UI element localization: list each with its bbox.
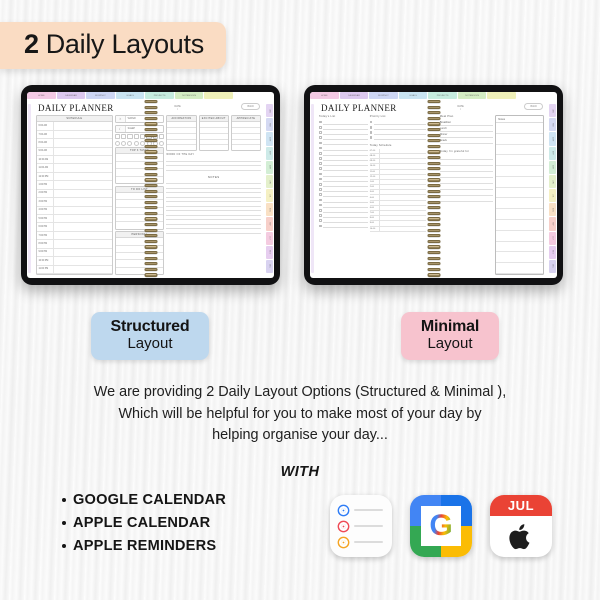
schedule-row[interactable]: 4:00 PM [37,207,112,215]
note-line[interactable] [496,134,543,145]
schedule-row[interactable]: 11:00 PM [37,266,112,274]
schedule-entry[interactable] [54,139,112,146]
apple-reminders-icon[interactable] [330,495,392,557]
schedule-entry[interactable] [54,173,112,180]
reminder-dot-red-icon [339,522,348,531]
spiral-ring [144,139,157,142]
schedule-entry[interactable] [380,221,426,225]
side-tab-nov[interactable]: NOV [266,246,273,259]
note-line[interactable] [496,209,543,220]
water-drop-icon: ☃ [116,116,126,122]
today-schedule-rows[interactable]: 07:00 08:00 09:00 10:00 11:00 12:00 1:00… [370,149,426,232]
page-title-banner: 2 Daily Layouts [0,22,226,69]
nav-tab-projects[interactable]: PROJECTS [145,92,174,99]
spiral-ring [144,234,157,237]
spiral-ring [427,100,440,103]
spiral-ring [144,251,157,254]
schedule-row[interactable]: 12:00 PM [37,173,112,181]
schedule-time: 1:00 PM [37,181,54,188]
excited-row[interactable] [200,145,228,150]
reminder-line [354,525,383,527]
description-text: We are providing 2 Daily Layout Options … [22,382,578,447]
schedule-entry[interactable] [54,190,112,197]
reminder-row [339,506,383,515]
nav-spacer [517,92,557,99]
schedule-entry[interactable] [54,181,112,188]
notes-section-structured: NOTES [166,173,261,276]
notes-lines-structured[interactable] [166,180,261,276]
spiral-ring [427,111,440,114]
spiral-ring [427,150,440,153]
spiral-ring [427,128,440,131]
spiral-ring [144,178,157,181]
habit-circle[interactable] [121,141,126,146]
nav-tab-projects[interactable]: PROJECTS [428,92,457,99]
schedule-entry[interactable] [380,201,426,205]
schedule-time: 6:00 AM [37,122,54,129]
schedule-row[interactable]: 8:00 PM [37,240,112,248]
spiral-ring [144,245,157,248]
appreciate-panel: APPRECIATE [231,115,261,151]
checkbox[interactable] [319,147,322,150]
side-tab-jul[interactable]: JUL [549,189,556,202]
nav-tab-monthly[interactable]: MONTHLY [86,92,115,99]
gratitude-label: Today I'm grateful for [440,144,494,155]
habit-square[interactable] [159,134,164,139]
checkbox[interactable] [370,126,373,129]
nav-tab-monthly[interactable]: MONTHLY [369,92,398,99]
schedule-time: 5:00 [370,201,380,205]
schedule-entry[interactable] [380,227,426,231]
schedule-row[interactable]: 11:00 AM [37,164,112,172]
side-tab-feb[interactable]: FEB [266,118,273,131]
checkbox[interactable] [319,142,322,145]
note-line[interactable] [496,123,543,134]
spiral-ring [144,229,157,232]
schedule-time: 3:00 PM [37,198,54,205]
schedule-entry[interactable] [380,170,426,174]
schedule-entry[interactable] [54,249,112,256]
schedule-time: 09:00 [370,159,380,163]
schedule-row[interactable]: 3:00 PM [37,198,112,206]
spiral-ring [144,184,157,187]
schedule-entry[interactable] [380,164,426,168]
schedule-time: 6:00 [370,206,380,210]
checkbox[interactable] [319,214,322,217]
list-item: APPLE CALENDAR [62,515,226,531]
checkbox[interactable] [370,131,373,134]
side-tab-apr[interactable]: APR [549,147,556,160]
side-tab-aug[interactable]: AUG [266,203,273,216]
appreciate-row[interactable] [232,145,260,150]
spiral-ring [427,139,440,142]
schedule-row[interactable]: 1:00 PM [37,181,112,189]
bullet-label: APPLE REMINDERS [73,538,216,554]
schedule-entry[interactable] [380,180,426,184]
spiral-ring [427,184,440,187]
spiral-ring [427,173,440,176]
checkbox[interactable] [319,193,322,196]
side-tab-oct[interactable]: OCT [549,232,556,245]
checkbox[interactable] [319,178,322,181]
todays-list-section: Today's List [319,115,368,275]
month-side-tabs-structured[interactable]: JAN FEB MAR APR MAY JUN JUL AUG SEP OCT … [265,102,274,276]
schedule-entry[interactable] [380,159,426,163]
apple-calendar-icon[interactable]: JUL [490,495,552,557]
gratitude-lines[interactable] [440,154,494,275]
nav-tab-notebooks[interactable]: NOTEBOOKS [458,92,487,99]
spiral-ring [427,106,440,109]
nav-tab-calendar[interactable]: CALENDAR [57,92,86,99]
schedule-entry[interactable] [54,232,112,239]
spiral-ring [144,128,157,131]
checkbox[interactable] [319,167,322,170]
schedule-row[interactable]: 8:00 AM [37,139,112,147]
habit-circle[interactable] [134,141,139,146]
side-tab-sep[interactable]: SEP [549,217,556,230]
date-value: / [175,108,181,111]
notes-label-minimal: Notes [496,116,543,123]
spiral-ring [427,217,440,220]
schedule-row[interactable]: 6:00 PM [37,223,112,231]
nav-tab-calendar[interactable]: CALENDAR [340,92,369,99]
word-of-the-day-lines[interactable] [166,157,261,171]
side-tab-sep[interactable]: SEP [266,217,273,230]
schedule-time: 8:00 AM [37,139,54,146]
schedule-entry[interactable] [54,257,112,264]
back-button-structured[interactable]: BACK [241,103,260,110]
side-tab-nov[interactable]: NOV [549,246,556,259]
apple-logo-svg [508,522,534,552]
feature-bullet-list: GOOGLE CALENDAR APPLE CALENDAR APPLE REM… [62,492,226,561]
side-tab-mar[interactable]: MAR [549,132,556,145]
notes-section-minimal: Notes [495,115,544,275]
nav-tab-goals[interactable]: GOALS [116,92,145,99]
spiral-ring [427,167,440,170]
schedule-row[interactable]: 7:00 AM [37,131,112,139]
schedule-row[interactable]: 10:00 [370,227,426,232]
spiral-ring [427,240,440,243]
habit-square[interactable] [121,134,126,139]
schedule-panel: SCHEDULE 6:00 AM 7:00 AM 8:00 AM 9:00 AM… [36,115,113,275]
schedule-row[interactable]: 7:00 PM [37,232,112,240]
checkbox[interactable] [319,204,322,207]
month-side-tabs-minimal[interactable]: JAN FEB MAR APR MAY JUN JUL AUG SEP OCT … [548,102,557,276]
spiral-ring [427,117,440,120]
line[interactable] [440,196,494,202]
word-of-the-day-section: WORD OF THE DAY [166,153,261,171]
affirmation-rows[interactable] [167,122,195,150]
side-tab-jan[interactable]: JAN [266,104,273,117]
side-tab-jun[interactable]: JUN [266,175,273,188]
nav-tab-notebooks[interactable]: NOTEBOOKS [175,92,204,99]
schedule-entry[interactable] [54,266,112,273]
checkbox[interactable] [319,157,322,160]
spiral-ring [427,257,440,260]
schedule-rows[interactable]: 6:00 AM 7:00 AM 8:00 AM 9:00 AM 10:00 AM… [37,122,112,274]
left-edge-strip [28,104,31,273]
app-icons-row: G JUL [330,495,552,557]
spiral-ring [144,134,157,137]
schedule-entry[interactable] [380,185,426,189]
line[interactable] [166,166,261,171]
note-line[interactable] [496,177,543,188]
spiral-ring [144,173,157,176]
line[interactable] [166,229,261,234]
google-center: G [421,506,461,546]
habit-circle[interactable] [115,141,120,146]
schedule-entry[interactable] [54,198,112,205]
habit-square[interactable] [115,134,120,139]
apple-calendar-month: JUL [490,495,552,516]
badge-slot-minimal: Minimal Layout [300,312,600,360]
planner-nav-tabs-structured[interactable]: HOME CALENDAR MONTHLY GOALS PROJECTS NOT… [27,92,274,99]
page-title-structured: DAILY PLANNER [38,103,114,113]
spiral-ring [427,134,440,137]
schedule-entry[interactable] [380,190,426,194]
side-tab-jul[interactable]: JUL [266,189,273,202]
schedule-row[interactable]: 9:00 PM [37,249,112,257]
today-schedule-label: Today Schedule [370,140,426,149]
schedule-row[interactable]: 6:00 AM [37,122,112,130]
spiral-ring [427,162,440,165]
schedule-time: 2:00 PM [37,190,54,197]
habit-circle[interactable] [127,141,132,146]
screen-minimal: HOME CALENDAR MONTHLY GOALS PROJECTS NOT… [310,92,557,278]
schedule-entry[interactable] [54,215,112,222]
schedule-time: 11:00 PM [37,266,54,273]
appreciate-rows[interactable] [232,122,260,150]
spiral-binding-minimal [427,99,440,278]
spiral-ring [144,201,157,204]
side-tab-apr[interactable]: APR [266,147,273,160]
schedule-entry[interactable] [380,175,426,179]
spiral-ring [427,273,440,276]
tablet-structured[interactable]: HOME CALENDAR MONTHLY GOALS PROJECTS NOT… [21,85,280,285]
with-label: WITH [0,464,600,480]
back-button-minimal[interactable]: BACK [524,103,543,110]
planner-nav-tabs-minimal[interactable]: HOME CALENDAR MONTHLY GOALS PROJECTS NOT… [310,92,557,99]
reminder-line [354,509,383,511]
title-banner-bg: 2 Daily Layouts [0,22,226,69]
schedule-entry[interactable] [380,211,426,215]
schedule-entry[interactable] [380,195,426,199]
checkbox[interactable] [319,121,322,124]
note-line[interactable] [496,188,543,199]
tablet-minimal[interactable]: HOME CALENDAR MONTHLY GOALS PROJECTS NOT… [304,85,563,285]
reminder-dot-blue-icon [339,506,348,515]
note-line[interactable] [496,155,543,166]
spiral-ring [427,195,440,198]
badge-slot-structured: Structured Layout [0,312,300,360]
list-item: APPLE REMINDERS [62,538,226,554]
spiral-ring [427,245,440,248]
schedule-entry[interactable] [54,156,112,163]
spiral-ring [427,262,440,265]
spiral-ring [427,122,440,125]
spiral-ring [144,162,157,165]
checkbox[interactable] [319,126,322,129]
affirmation-panel: AFFIRMATION [166,115,196,151]
side-tab-aug[interactable]: AUG [549,203,556,216]
schedule-entry[interactable] [380,206,426,210]
moon-icon: ☾ [116,126,126,132]
schedule-time: 10:00 AM [37,156,54,163]
spiral-ring [144,100,157,103]
date-value: / [458,108,464,111]
schedule-entry[interactable] [54,122,112,129]
side-tab-may[interactable]: MAY [549,161,556,174]
bullet-dot-icon [62,521,66,525]
excited-about-panel: EXCITED ABOUT [199,115,229,151]
note-line[interactable] [496,198,543,209]
side-tab-jan[interactable]: JAN [549,104,556,117]
bullet-dot-icon [62,544,66,548]
schedule-time: 9:00 [370,221,380,225]
priority-list-rows[interactable] [370,120,426,141]
habit-circle[interactable] [159,141,164,146]
badge-structured-subtitle: Layout [111,335,190,352]
affirmation-row[interactable] [167,145,195,150]
schedule-time: 4:00 [370,195,380,199]
schedule-entry[interactable] [54,207,112,214]
side-tab-feb[interactable]: FEB [549,118,556,131]
schedule-time: 10:00 PM [37,257,54,264]
habit-square[interactable] [134,134,139,139]
checkbox[interactable] [370,136,373,139]
google-calendar-icon[interactable]: G [410,495,472,557]
spiral-ring [144,167,157,170]
excited-about-rows[interactable] [200,122,228,150]
description-line-1: We are providing 2 Daily Layout Options … [22,382,578,404]
spiral-ring [144,273,157,276]
note-line[interactable] [496,166,543,177]
nav-tab-goals[interactable]: GOALS [399,92,428,99]
schedule-row[interactable]: 9:00 AM [37,148,112,156]
schedule-entry[interactable] [54,148,112,155]
layout-badges: Structured Layout Minimal Layout [0,312,600,360]
spiral-ring [427,206,440,209]
todays-list-rows[interactable] [319,120,368,229]
spiral-ring [427,178,440,181]
habit-square[interactable] [127,134,132,139]
spiral-ring [144,145,157,148]
schedule-entry[interactable] [380,216,426,220]
checkbox[interactable] [319,162,322,165]
schedule-time: 5:00 PM [37,215,54,222]
spiral-ring [427,190,440,193]
checkbox[interactable] [319,219,322,222]
spiral-ring [427,201,440,204]
schedule-time: 08:00 [370,154,380,158]
side-tab-may[interactable]: MAY [266,161,273,174]
title-text: Daily Layouts [39,29,204,59]
planner-body-structured: DAILY PLANNER DATE / BACK SCHEDULE 6:00 … [27,99,274,278]
note-line[interactable] [496,242,543,253]
spiral-ring [144,195,157,198]
checkbox[interactable] [319,131,322,134]
badge-minimal-subtitle: Layout [421,335,479,352]
checkbox[interactable] [319,188,322,191]
side-tab-dec[interactable]: DEC [549,260,556,273]
checkbox[interactable] [319,136,322,139]
schedule-time: 11:00 AM [37,164,54,171]
side-tab-oct[interactable]: OCT [266,232,273,245]
schedule-row[interactable]: 10:00 AM [37,156,112,164]
badge-structured: Structured Layout [91,312,210,360]
left-edge-strip [311,104,314,273]
note-line[interactable] [496,263,543,274]
note-line[interactable] [496,220,543,231]
water-tracker-label: WATER [126,118,136,120]
schedule-time: 12:00 [370,175,380,179]
apple-logo-icon [490,516,552,557]
schedule-entry[interactable] [54,131,112,138]
schedule-entry[interactable] [380,154,426,158]
schedule-time: 2:00 [370,185,380,189]
schedule-row[interactable]: 5:00 PM [37,215,112,223]
side-tab-dec[interactable]: DEC [266,260,273,273]
spiral-ring [144,257,157,260]
checkbox-row[interactable] [319,223,368,228]
spiral-ring [427,229,440,232]
spiral-ring [427,145,440,148]
checkbox[interactable] [319,183,322,186]
spiral-ring [144,212,157,215]
nav-tab-extra[interactable] [204,92,233,99]
planner-body-minimal: DAILY PLANNER DATE / BACK Today's List [310,99,557,278]
spiral-ring [144,150,157,153]
schedule-row[interactable]: 2:00 PM [37,190,112,198]
checkbox[interactable] [319,225,322,228]
badge-structured-title: Structured [111,318,190,336]
schedule-time: 3:00 [370,190,380,194]
spiral-ring [144,156,157,159]
reminder-dot-orange-icon [339,538,348,547]
spiral-ring [144,268,157,271]
note-line[interactable] [496,145,543,156]
checkbox[interactable] [319,199,322,202]
entry-line[interactable] [323,223,368,228]
side-tab-jun[interactable]: JUN [549,175,556,188]
date-field-structured[interactable]: DATE / [175,103,181,111]
page-title-minimal: DAILY PLANNER [321,103,397,113]
google-g-letter: G [429,511,452,541]
date-field-minimal[interactable]: DATE / [458,103,464,111]
checkbox[interactable] [319,152,322,155]
checkbox[interactable] [319,209,322,212]
schedule-entry[interactable] [54,240,112,247]
side-tab-mar[interactable]: MAR [266,132,273,145]
nav-tab-home[interactable]: HOME [27,92,56,99]
schedule-row[interactable]: 10:00 PM [37,257,112,265]
schedule-entry[interactable] [380,149,426,153]
schedule-time: 9:00 AM [37,148,54,155]
spiral-ring [144,240,157,243]
schedule-time: 7:00 AM [37,131,54,138]
notes-panel-minimal: Notes [495,115,544,275]
nav-tab-home[interactable]: HOME [310,92,339,99]
nav-tab-extra[interactable] [487,92,516,99]
schedule-time: 9:00 PM [37,249,54,256]
checkbox[interactable] [319,173,322,176]
title-number: 2 [24,29,39,59]
schedule-entry[interactable] [54,223,112,230]
note-line[interactable] [496,231,543,242]
checkbox[interactable] [370,121,373,124]
schedule-entry[interactable] [54,164,112,171]
note-line[interactable] [496,252,543,263]
